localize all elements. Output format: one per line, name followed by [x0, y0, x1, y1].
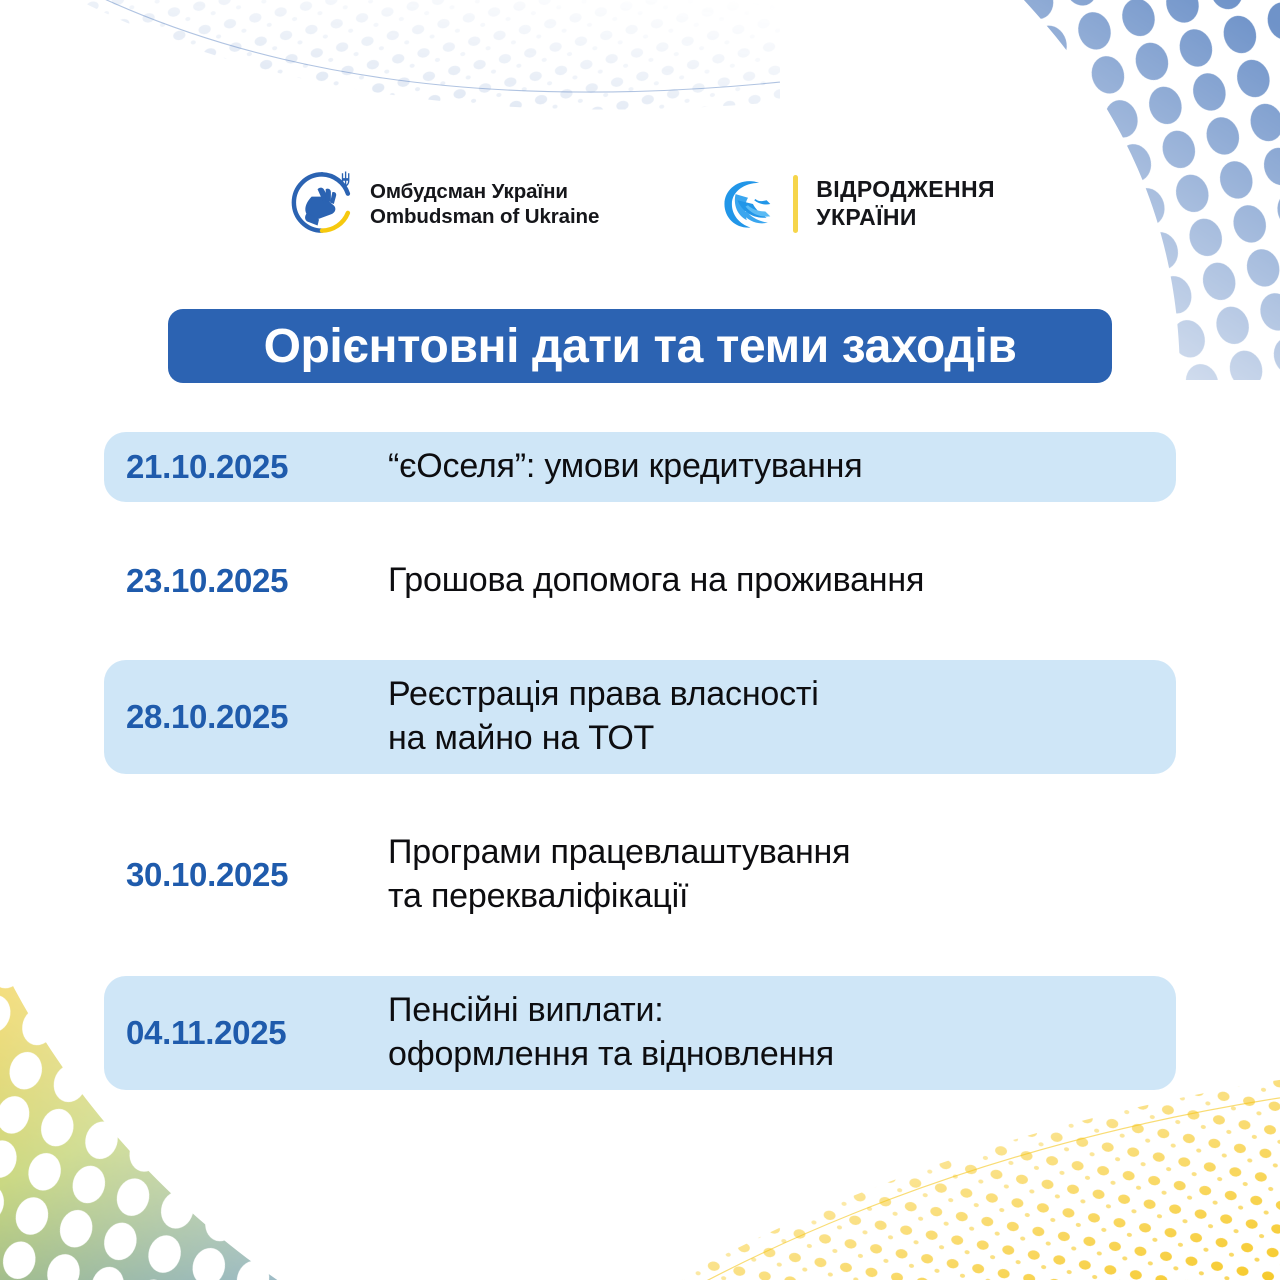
- row-gap: [104, 932, 1176, 976]
- row-gap: [104, 774, 1176, 818]
- event-topic-line1: Реєстрація права власності: [388, 675, 819, 713]
- event-topic-line2: оформлення та відновлення: [388, 1033, 1176, 1077]
- event-date: 30.10.2025: [126, 856, 388, 894]
- table-row: 30.10.2025 Програми працевлаштування та …: [104, 818, 1176, 932]
- ombudsman-name-en: Ombudsman of Ukraine: [370, 204, 599, 229]
- event-topic-line2: та перекваліфікації: [388, 875, 1176, 919]
- ombudsman-logo: Омбудсман України Ombudsman of Ukraine: [285, 167, 599, 241]
- event-topic-line1: Грошова допомога на проживання: [388, 561, 924, 599]
- event-topic: “єОселя”: умови кредитування: [388, 445, 1176, 489]
- event-topic-line2: на майно на ТОТ: [388, 717, 1176, 761]
- table-row: 21.10.2025 “єОселя”: умови кредитування: [104, 432, 1176, 502]
- revival-name-line1: ВІДРОДЖЕННЯ: [816, 176, 995, 204]
- event-topic: Програми працевлаштування та перекваліфі…: [388, 831, 1176, 918]
- ombudsman-logo-text: Омбудсман України Ombudsman of Ukraine: [370, 179, 599, 229]
- poster-canvas: Омбудсман України Ombudsman of Ukraine В…: [0, 0, 1280, 1280]
- page-title-banner: Орієнтовні дати та теми заходів: [168, 309, 1112, 383]
- event-topic-line1: “єОселя”: умови кредитування: [388, 447, 862, 485]
- schedule-list: 21.10.2025 “єОселя”: умови кредитування …: [104, 432, 1176, 1090]
- event-topic-line1: Пенсійні виплати:: [388, 991, 664, 1029]
- logo-divider: [793, 175, 798, 233]
- event-topic: Грошова допомога на проживання: [388, 559, 1176, 603]
- table-row: 28.10.2025 Реєстрація права власності на…: [104, 660, 1176, 774]
- revival-logo: ВІДРОДЖЕННЯ УКРАЇНИ: [717, 173, 995, 235]
- ombudsman-name-uk: Омбудсман України: [370, 179, 599, 204]
- phoenix-bird-circle-icon: [717, 173, 779, 235]
- event-date: 04.11.2025: [126, 1014, 388, 1052]
- event-date: 21.10.2025: [126, 448, 388, 486]
- row-gap: [104, 502, 1176, 546]
- event-topic: Реєстрація права власності на майно на Т…: [388, 673, 1176, 760]
- logo-bar: Омбудсман України Ombudsman of Ukraine В…: [0, 158, 1280, 250]
- page-title: Орієнтовні дати та теми заходів: [264, 319, 1017, 374]
- table-row: 23.10.2025 Грошова допомога на проживанн…: [104, 546, 1176, 616]
- event-date: 28.10.2025: [126, 698, 388, 736]
- event-topic-line1: Програми працевлаштування: [388, 833, 850, 871]
- ombudsman-hand-circle-icon: [285, 167, 359, 241]
- revival-logo-text: ВІДРОДЖЕННЯ УКРАЇНИ: [816, 176, 995, 231]
- event-date: 23.10.2025: [126, 562, 388, 600]
- revival-name-line2: УКРАЇНИ: [816, 204, 995, 232]
- row-gap: [104, 616, 1176, 660]
- event-topic: Пенсійні виплати: оформлення та відновле…: [388, 989, 1176, 1076]
- table-row: 04.11.2025 Пенсійні виплати: оформлення …: [104, 976, 1176, 1090]
